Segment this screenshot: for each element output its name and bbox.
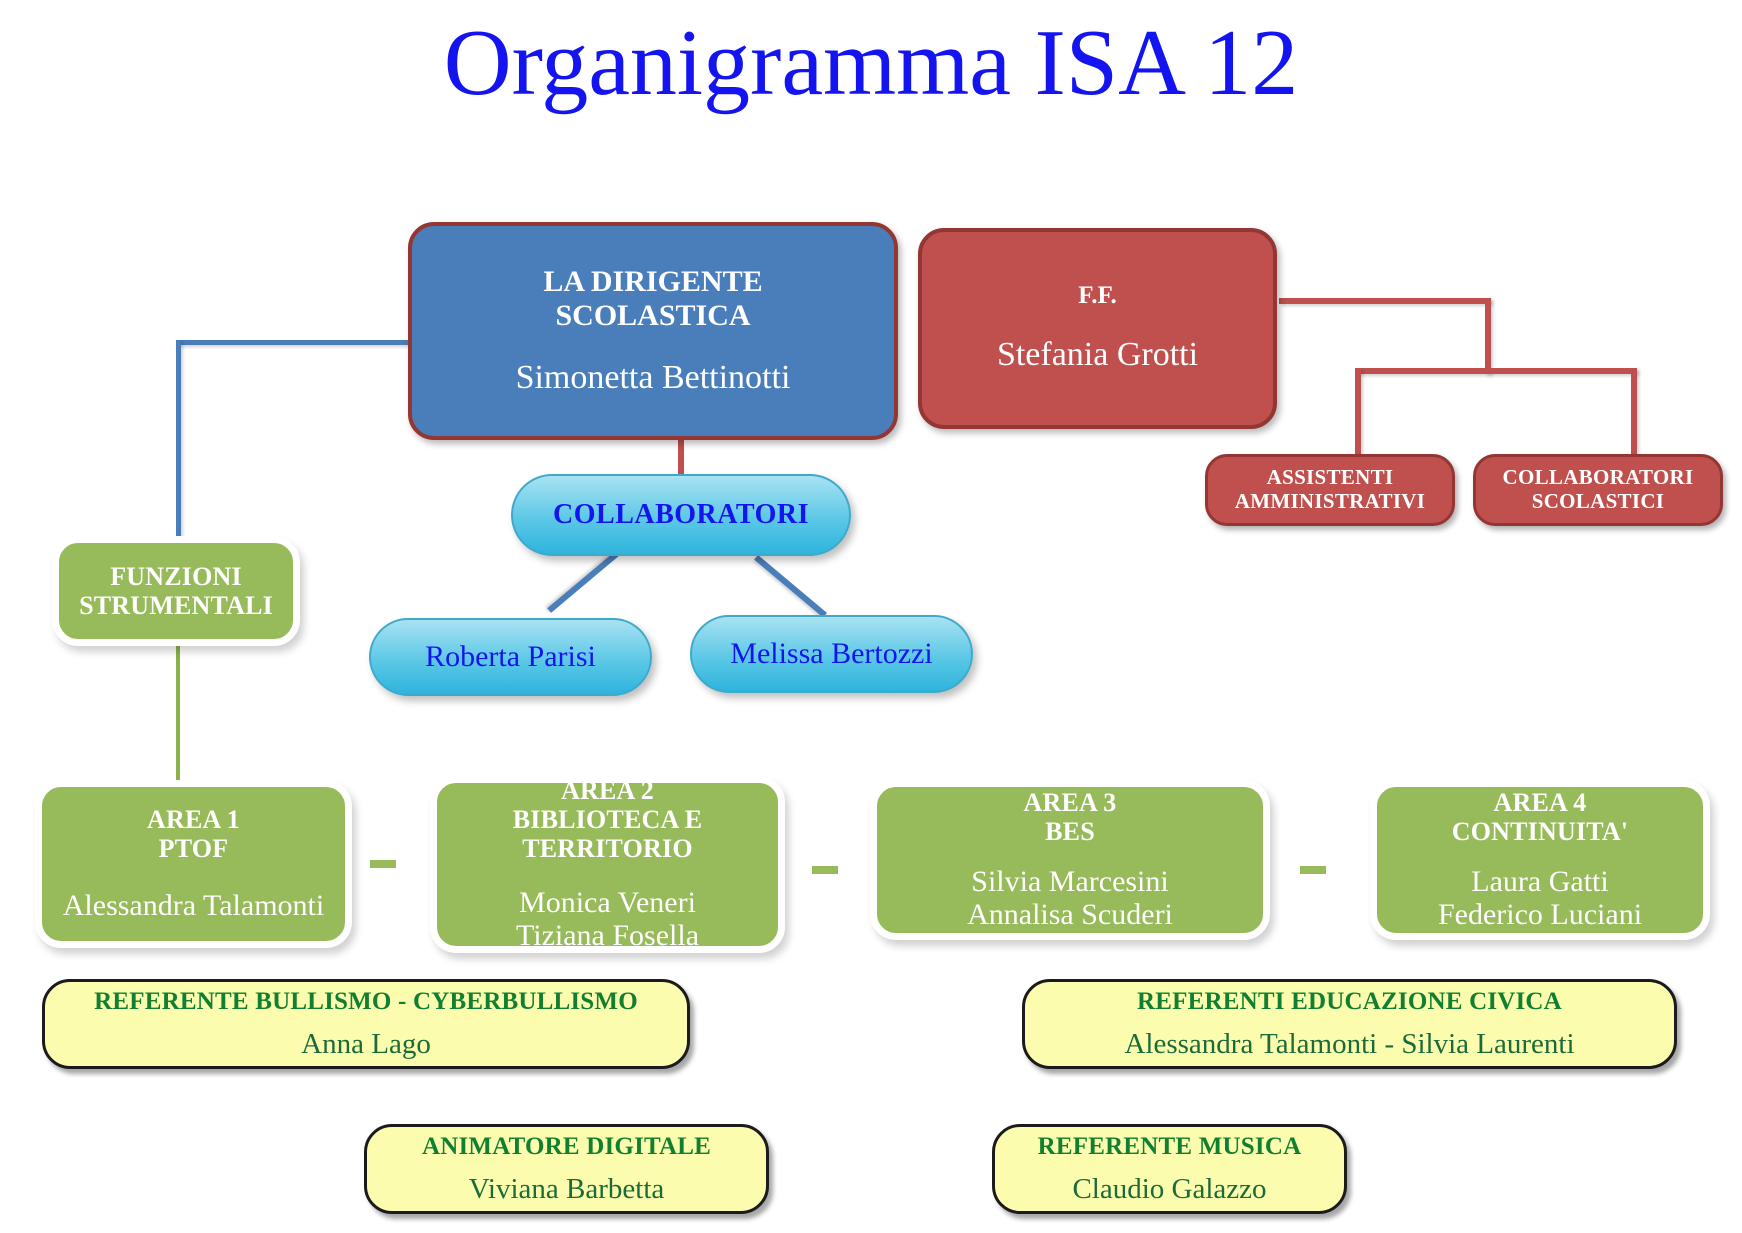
node-collaboratori-scolastici-line1: COLLABORATORI (1503, 466, 1694, 490)
connector-ff-horizontal-bus (1355, 368, 1637, 374)
node-area-2[interactable]: AREA 2 BIBLIOTECA E TERRITORIO Monica Ve… (430, 776, 785, 953)
node-ff-role: F.F. (1078, 282, 1116, 310)
page-title: Organigramma ISA 12 (0, 14, 1742, 113)
node-assistenti-line1: ASSISTENTI (1267, 466, 1394, 490)
node-roberta-parisi-name: Roberta Parisi (425, 640, 596, 674)
node-collaboratore-melissa-bertozzi[interactable]: Melissa Bertozzi (690, 615, 973, 693)
node-area-4[interactable]: AREA 4 CONTINUITA' Laura Gatti Federico … (1370, 780, 1710, 940)
node-referente-musica-role: REFERENTE MUSICA (1038, 1133, 1302, 1161)
node-area-2-heading2: BIBLIOTECA E TERRITORIO (447, 805, 768, 863)
node-area-2-person-1: Monica Veneri (519, 886, 696, 920)
node-area-4-heading1: AREA 4 (1494, 788, 1587, 817)
connector-ff-drop-collaboratori-scolastici (1631, 368, 1637, 456)
node-collaboratore-roberta-parisi[interactable]: Roberta Parisi (369, 618, 652, 696)
connector-ff-drop-assistenti (1355, 368, 1361, 456)
node-assistenti-line2: AMMINISTRATIVI (1235, 490, 1426, 514)
divider-dash-area1-area2 (370, 860, 396, 868)
divider-dash-area3-area4 (1300, 866, 1326, 874)
node-area-3-heading2: BES (1045, 817, 1095, 846)
node-area-2-person-2: Tiziana Fosella (516, 919, 699, 953)
connector-ff-vertical-right (1485, 298, 1491, 374)
node-animatore-digitale[interactable]: ANIMATORE DIGITALE Viviana Barbetta (364, 1124, 769, 1214)
node-ff-name: Stefania Grotti (997, 336, 1198, 374)
node-referenti-educazione-civica-role: REFERENTI EDUCAZIONE CIVICA (1137, 988, 1562, 1016)
organigramma-canvas: Organigramma ISA 12 LA DIRIGENTE SCOLAST… (0, 0, 1742, 1233)
node-dirigente-scolastica[interactable]: LA DIRIGENTE SCOLASTICA Simonetta Bettin… (408, 222, 898, 440)
node-dirigente-role-line1: LA DIRIGENTE (543, 265, 762, 299)
node-ff[interactable]: F.F. Stefania Grotti (918, 228, 1277, 429)
node-funzioni-line1: FUNZIONI (110, 562, 242, 591)
node-collaboratori-label: COLLABORATORI (553, 499, 809, 530)
node-area-1-heading2: PTOF (159, 834, 229, 863)
divider-dash-area2-area3 (812, 866, 838, 874)
node-area-3-heading1: AREA 3 (1024, 788, 1117, 817)
node-collaboratori-scolastici[interactable]: COLLABORATORI SCOLASTICI (1473, 454, 1723, 526)
node-referenti-educazione-civica[interactable]: REFERENTI EDUCAZIONE CIVICA Alessandra T… (1022, 979, 1677, 1069)
node-funzioni-line2: STRUMENTALI (79, 591, 273, 620)
node-assistenti-amministrativi[interactable]: ASSISTENTI AMMINISTRATIVI (1205, 454, 1455, 526)
connector-collaboratori-to-melissa (754, 555, 827, 617)
node-dirigente-name: Simonetta Bettinotti (516, 359, 791, 397)
node-referente-musica-name: Claudio Galazzo (1072, 1173, 1266, 1205)
node-referenti-educazione-civica-name: Alessandra Talamonti - Silvia Laurenti (1124, 1028, 1574, 1060)
node-area-3-person-2: Annalisa Scuderi (967, 898, 1173, 932)
node-dirigente-role-line2: SCOLASTICA (555, 299, 750, 333)
connector-dirigente-to-funzioni-vertical (176, 340, 181, 545)
node-collaboratori-scolastici-line2: SCOLASTICI (1532, 490, 1665, 514)
node-area-1-heading1: AREA 1 (147, 805, 240, 834)
node-area-1[interactable]: AREA 1 PTOF Alessandra Talamonti (35, 780, 352, 948)
node-funzioni-strumentali[interactable]: FUNZIONI STRUMENTALI (52, 536, 300, 646)
node-animatore-digitale-name: Viviana Barbetta (469, 1173, 665, 1205)
node-animatore-digitale-role: ANIMATORE DIGITALE (422, 1133, 711, 1161)
node-referente-bullismo-role: REFERENTE BULLISMO - CYBERBULLISMO (94, 988, 638, 1016)
node-collaboratori[interactable]: COLLABORATORI (511, 474, 851, 556)
connector-dirigente-to-funzioni-horizontal (176, 340, 412, 345)
node-melissa-bertozzi-name: Melissa Bertozzi (730, 637, 932, 671)
connector-dirigente-to-collaboratori (678, 437, 684, 479)
connector-collaboratori-to-roberta (547, 550, 620, 612)
node-area-4-heading2: CONTINUITA' (1452, 817, 1629, 846)
node-area-4-person-1: Laura Gatti (1471, 865, 1608, 899)
node-area-1-person-1: Alessandra Talamonti (63, 889, 324, 923)
node-area-2-heading1: AREA 2 (561, 776, 654, 805)
node-area-3-person-1: Silvia Marcesini (971, 865, 1168, 899)
connector-ff-horizontal-top (1279, 298, 1491, 304)
node-referente-musica[interactable]: REFERENTE MUSICA Claudio Galazzo (992, 1124, 1347, 1214)
node-referente-bullismo-name: Anna Lago (301, 1028, 431, 1060)
node-area-3[interactable]: AREA 3 BES Silvia Marcesini Annalisa Scu… (870, 780, 1270, 940)
node-referente-bullismo[interactable]: REFERENTE BULLISMO - CYBERBULLISMO Anna … (42, 979, 690, 1069)
node-area-4-person-2: Federico Luciani (1438, 898, 1642, 932)
